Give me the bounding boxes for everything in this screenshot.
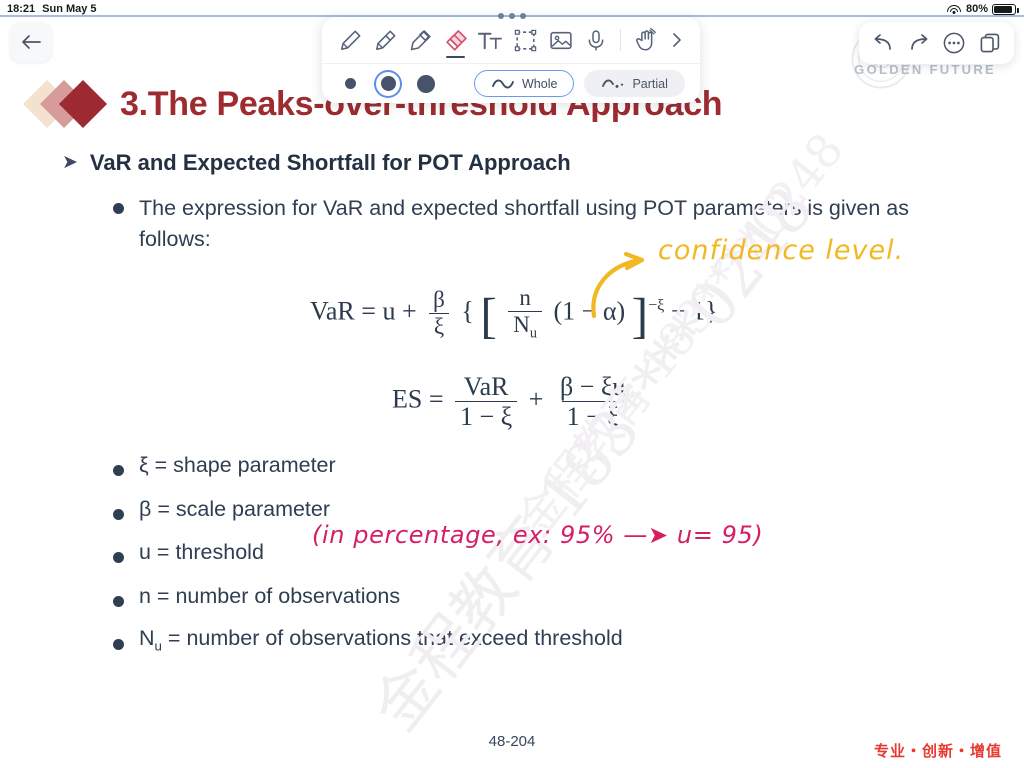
formula-var-Nu-sub: u [530, 325, 537, 341]
pen-tool-icon [338, 28, 363, 53]
list-item: n = number of observations [113, 575, 623, 619]
parameter-text: n = number of observations [139, 584, 400, 609]
panel-drag-handle[interactable] [0, 11, 1024, 21]
eraser-options-row: Whole Partial [322, 63, 700, 103]
formula-var-u: u [382, 297, 395, 326]
eraser-size-medium[interactable] [376, 72, 400, 96]
round-bullet-icon [113, 465, 124, 476]
eraser-size-group[interactable] [338, 72, 438, 96]
slide-viewer-root: 金程教育 183****0248 金程教育 183****0248 3.The … [0, 0, 1024, 768]
formula-var-open-brace: { [461, 297, 473, 326]
undo-icon [871, 33, 895, 53]
page-number: 48-204 [0, 733, 1024, 750]
image-tool-icon [548, 28, 574, 53]
parameter-text: u = threshold [139, 540, 264, 565]
eraser-mode-partial-label: Partial [632, 77, 667, 91]
redo-icon [907, 33, 931, 53]
text-tool-button[interactable] [474, 20, 507, 60]
formula-var-eq: = [361, 297, 376, 326]
highlighter-tool-button[interactable] [404, 20, 437, 60]
round-bullet-icon [113, 596, 124, 607]
microphone-tool-icon [584, 28, 608, 53]
parameter-symbol: N [139, 626, 155, 650]
title-diamond-decoration [28, 78, 120, 130]
parameter-subscript: u [155, 638, 162, 653]
whole-stroke-icon [491, 78, 515, 90]
eraser-tool-icon [443, 27, 469, 53]
round-bullet-icon [113, 552, 124, 563]
microphone-tool-button[interactable] [579, 20, 612, 60]
hand-tool-button[interactable] [629, 20, 662, 60]
redo-button[interactable] [904, 28, 934, 58]
golden-future-watermark: GOLDEN FUTURE [854, 62, 996, 77]
text-tool-icon [477, 28, 504, 53]
selection-tool-button[interactable] [509, 20, 542, 60]
eraser-size-large[interactable] [414, 72, 438, 96]
formula-var-lhs: VaR [310, 297, 355, 326]
formula-var-beta: β [428, 287, 450, 313]
expand-toolbar-button[interactable] [666, 31, 688, 49]
formula-var-open-bracket: [ [480, 288, 496, 343]
formula-var-n: n [514, 285, 536, 311]
pencil-tool-icon [373, 28, 398, 53]
arrow-bullet-icon: ➤ [62, 153, 78, 172]
duplicate-page-button[interactable] [975, 28, 1005, 58]
arrow-left-icon [20, 33, 42, 51]
slide-canvas[interactable]: 金程教育 183****0248 金程教育 183****0248 3.The … [0, 0, 1024, 768]
formula-var-n-over-Nu: n Nu [508, 285, 542, 342]
eraser-mode-group[interactable]: Whole Partial [474, 70, 685, 97]
image-tool-button[interactable] [544, 20, 577, 60]
toolbar-divider [620, 29, 621, 51]
duplicate-page-icon [978, 31, 1002, 55]
eraser-mode-whole[interactable]: Whole [474, 70, 574, 97]
highlighter-tool-icon [408, 28, 433, 53]
brand-slogan: 专业・创新・增值 [874, 740, 1002, 761]
formula-var-beta-over-xi: β ξ [428, 287, 450, 340]
pen-tool-button[interactable] [334, 20, 367, 60]
back-button[interactable] [10, 22, 52, 62]
hand-tool-icon [633, 27, 659, 53]
parameter-text: ξ = shape parameter [139, 453, 336, 478]
annotation-toolbar[interactable]: Whole Partial [322, 17, 700, 103]
formula-es-lhs: ES [392, 385, 422, 414]
formula-var-Nu-base: N [513, 312, 530, 337]
handwriting-confidence-level: confidence level. [658, 235, 904, 266]
more-options-icon [942, 31, 966, 55]
handwriting-threshold-note: (in percentage, ex: 95% —➤ u= 95) [312, 521, 763, 549]
formula-es-plus: + [529, 385, 544, 414]
formula-var-plus: + [402, 297, 417, 326]
parameter-description: = number of observations that exceed thr… [162, 626, 623, 650]
undo-button[interactable] [868, 28, 898, 58]
round-bullet-icon [113, 509, 124, 520]
formula-es-den1: 1 − ξ [455, 401, 517, 431]
round-bullet-icon [113, 203, 124, 214]
formula-es-num1: VaR [459, 372, 514, 401]
eraser-size-small[interactable] [338, 72, 362, 96]
parameter-text: β = scale parameter [139, 497, 330, 522]
chevron-right-icon [670, 31, 684, 49]
round-bullet-icon [113, 639, 124, 650]
document-actions-toolbar[interactable] [859, 22, 1014, 64]
tool-row [322, 17, 700, 63]
partial-stroke-icon [601, 78, 625, 90]
parameter-text-last: Nu = number of observations that exceed … [139, 626, 623, 653]
eraser-tool-button[interactable] [439, 20, 472, 60]
level1-bullet-row: ➤ VaR and Expected Shortfall for POT App… [62, 150, 571, 176]
eraser-mode-whole-label: Whole [522, 77, 557, 91]
list-item: Nu = number of observations that exceed … [113, 618, 623, 662]
eraser-mode-partial[interactable]: Partial [584, 70, 684, 97]
more-options-button[interactable] [939, 28, 969, 58]
selection-tool-icon [513, 28, 538, 53]
formula-var-xi: ξ [429, 313, 449, 340]
formula-es-first-fraction: VaR 1 − ξ [455, 372, 517, 431]
pencil-tool-button[interactable] [369, 20, 402, 60]
formula-es-eq: = [429, 385, 444, 414]
level1-bullet-text: VaR and Expected Shortfall for POT Appro… [90, 150, 571, 176]
formula-var-Nu: Nu [508, 311, 542, 343]
